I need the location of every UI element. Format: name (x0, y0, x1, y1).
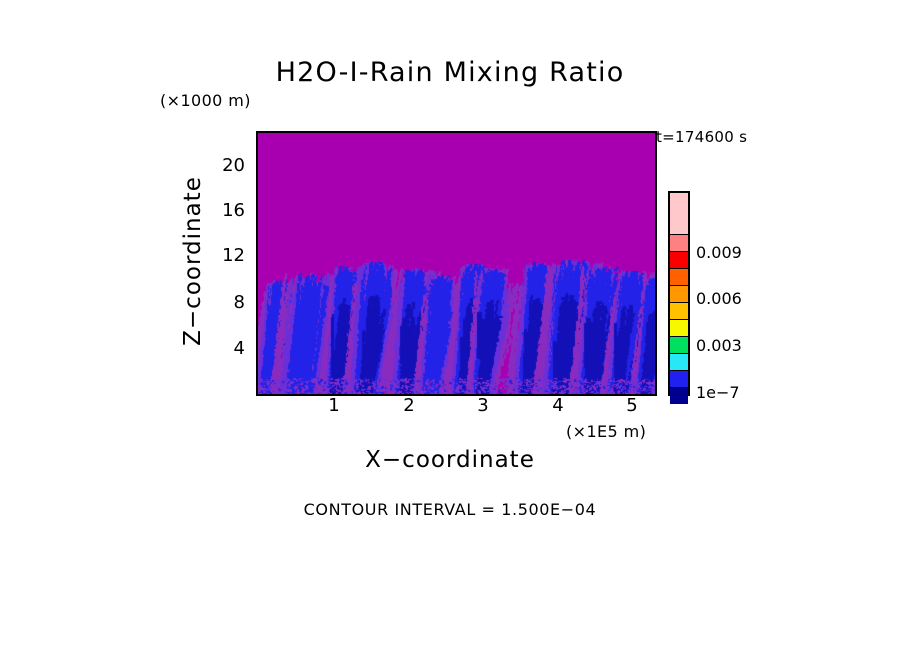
x-axis-title: X−coordinate (0, 447, 904, 473)
y-axis-unit-label: (×1000 m) (160, 91, 251, 110)
x-axis-unit-label: (×1E5 m) (566, 422, 646, 441)
y-tick-label-20: 20 (205, 155, 245, 176)
colorbar-cell-5 (670, 303, 688, 319)
colorbar-cell-7 (670, 337, 688, 353)
y-tick-label-16: 16 (205, 200, 245, 221)
colorbar-cell-6 (670, 320, 688, 336)
x-tick-label-1: 1 (314, 395, 354, 416)
colorbar-cell-9 (670, 371, 688, 387)
colorbar-cell-8 (670, 354, 688, 370)
x-tick-label-4: 4 (538, 395, 578, 416)
timestamp-label: t=174600 s (656, 128, 747, 146)
x-tick-label-3: 3 (463, 395, 503, 416)
colorbar-label-0006: 0.006 (696, 289, 742, 308)
y-tick-label-12: 12 (205, 245, 245, 266)
colorbar-label-0009: 0.009 (696, 243, 742, 262)
contour-interval-note: CONTOUR INTERVAL = 1.500E−04 (0, 500, 904, 519)
y-tick-label-4: 4 (205, 338, 245, 359)
x-tick-label-5: 5 (612, 395, 652, 416)
y-tick-label-8: 8 (205, 292, 245, 313)
contour-interval-text: CONTOUR INTERVAL = 1.500E−04 (304, 500, 597, 519)
colorbar-label-1e-7: 1e−7 (696, 383, 740, 402)
colorbar-cell-1 (670, 235, 688, 251)
colorbar-cell-4 (670, 286, 688, 302)
y-axis-title-text: Z−coordinate (180, 161, 206, 361)
colorbar-cell-3 (670, 269, 688, 285)
x-axis-title-text: X−coordinate (365, 447, 535, 473)
y-axis-title: Z−coordinate (178, 163, 208, 274)
page-title: H2O-I-Rain Mixing Ratio (0, 57, 904, 88)
x-tick-label-2: 2 (389, 395, 429, 416)
rain-mixing-ratio-field (258, 133, 655, 394)
colorbar-cell-2 (670, 252, 688, 268)
page-title-text: H2O-I-Rain Mixing Ratio (276, 57, 625, 88)
colorbar-cell-10 (670, 388, 688, 404)
colorbar (668, 191, 690, 396)
colorbar-cell-0 (670, 193, 688, 234)
colorbar-label-0003: 0.003 (696, 336, 742, 355)
plot-area (256, 131, 657, 396)
